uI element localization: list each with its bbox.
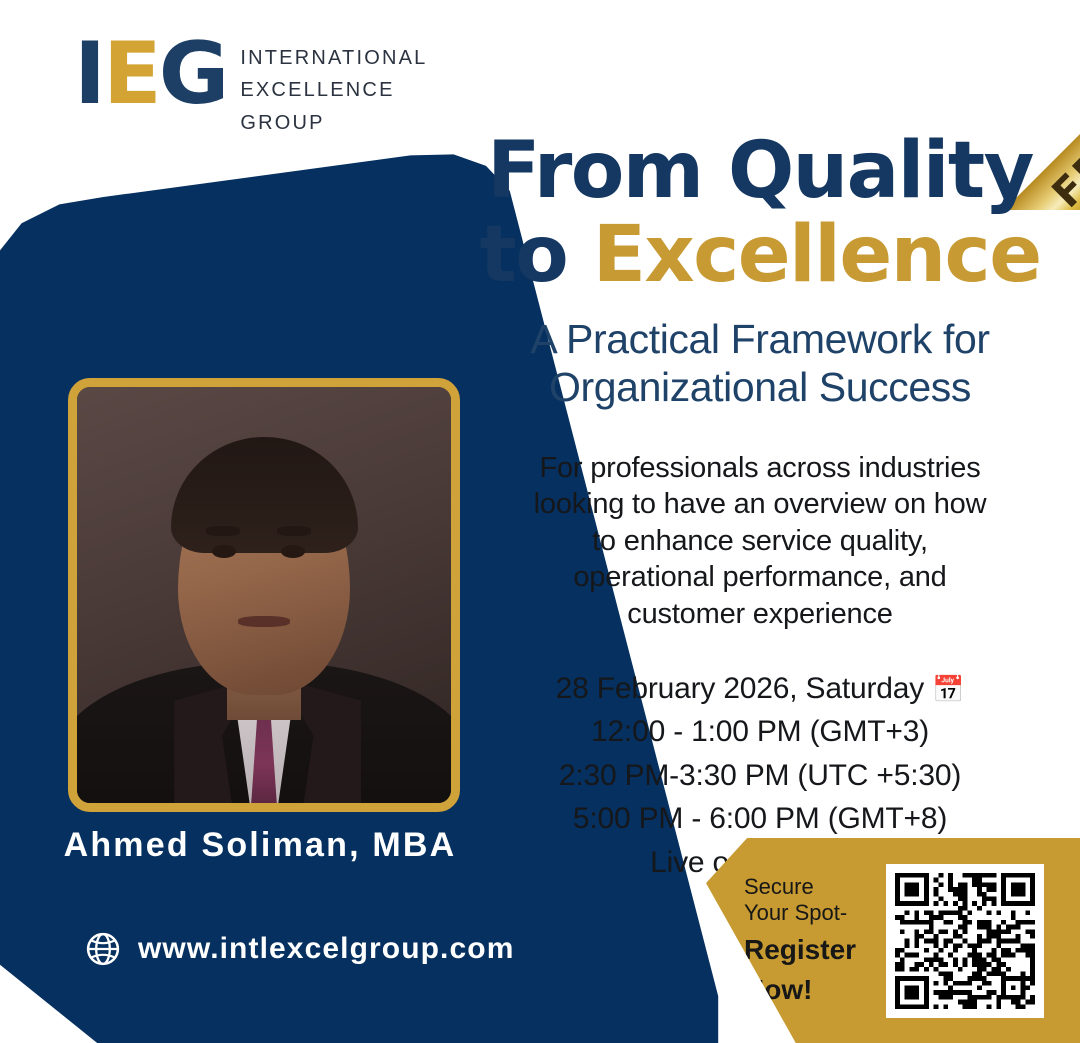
description-line-1: For professionals across industries (470, 450, 1050, 487)
title-line-2-prefix: to (479, 210, 592, 300)
logo-word-line-3: GROUP (240, 107, 427, 139)
page-title: From Quality to Excellence (470, 132, 1050, 295)
logo-mark: IEG (74, 32, 226, 116)
register-text: Secure Your Spot- Register Now! (744, 874, 872, 1008)
website-row[interactable]: www.intlexcelgroup.com (86, 932, 514, 966)
calendar-icon: 📅 (932, 675, 964, 705)
schedule-time-2: 2:30 PM-3:30 PM (UTC +5:30) (470, 754, 1050, 798)
qr-code-canvas (895, 873, 1035, 1009)
portrait-eyebrow-right (277, 526, 311, 535)
register-big-line-1: Register (744, 933, 872, 967)
portrait-mouth (238, 616, 290, 627)
logo-letter-g: G (159, 24, 227, 124)
qr-code[interactable] (886, 864, 1044, 1018)
logo-wordmark: INTERNATIONAL EXCELLENCE GROUP (240, 42, 427, 139)
logo-letter-i: I (74, 24, 103, 124)
description-line-3: to enhance service quality, (470, 523, 1050, 560)
portrait-eyebrow-left (206, 526, 240, 535)
speaker-photo (77, 387, 451, 803)
logo-letter-e: E (103, 24, 159, 124)
portrait-hair (171, 437, 358, 553)
description-line-5: customer experience (470, 596, 1050, 633)
description: For professionals across industries look… (470, 450, 1050, 633)
register-small-line-1: Secure (744, 874, 872, 901)
description-line-2: looking to have an overview on how (470, 486, 1050, 523)
globe-icon (86, 932, 120, 966)
logo-word-line-1: INTERNATIONAL (240, 42, 427, 74)
content-column: From Quality to Excellence A Practical F… (470, 132, 1050, 884)
register-big-line-2: Now! (744, 973, 872, 1007)
subtitle-line-1: A Practical Framework for (470, 315, 1050, 363)
title-line-2: to Excellence (470, 216, 1050, 296)
speaker-photo-frame (68, 378, 460, 812)
title-line-2-accent: Excellence (593, 210, 1041, 300)
description-line-4: operational performance, and (470, 559, 1050, 596)
logo-word-line-2: EXCELLENCE (240, 74, 427, 106)
schedule-date: 28 February 2026, Saturday (556, 672, 924, 705)
website-url[interactable]: www.intlexcelgroup.com (138, 932, 514, 966)
subtitle-line-2: Organizational Success (470, 363, 1050, 411)
webinar-poster: FREE IEG INTERNATIONAL EXCELLENCE GROUP (0, 0, 1080, 1043)
schedule-time-3: 5:00 PM - 6:00 PM (GMT+8) (470, 797, 1050, 841)
register-banner[interactable]: Secure Your Spot- Register Now! (706, 838, 1080, 1043)
ieg-logo: IEG INTERNATIONAL EXCELLENCE GROUP (74, 32, 427, 139)
subtitle: A Practical Framework for Organizational… (470, 315, 1050, 412)
speaker-name: Ahmed Soliman, MBA (0, 826, 520, 865)
schedule-time-1: 12:00 - 1:00 PM (GMT+3) (470, 710, 1050, 754)
schedule-date-row: 28 February 2026, Saturday 📅 (470, 667, 1050, 711)
title-line-1: From Quality (487, 126, 1033, 216)
register-small-line-2: Your Spot- (744, 900, 872, 927)
